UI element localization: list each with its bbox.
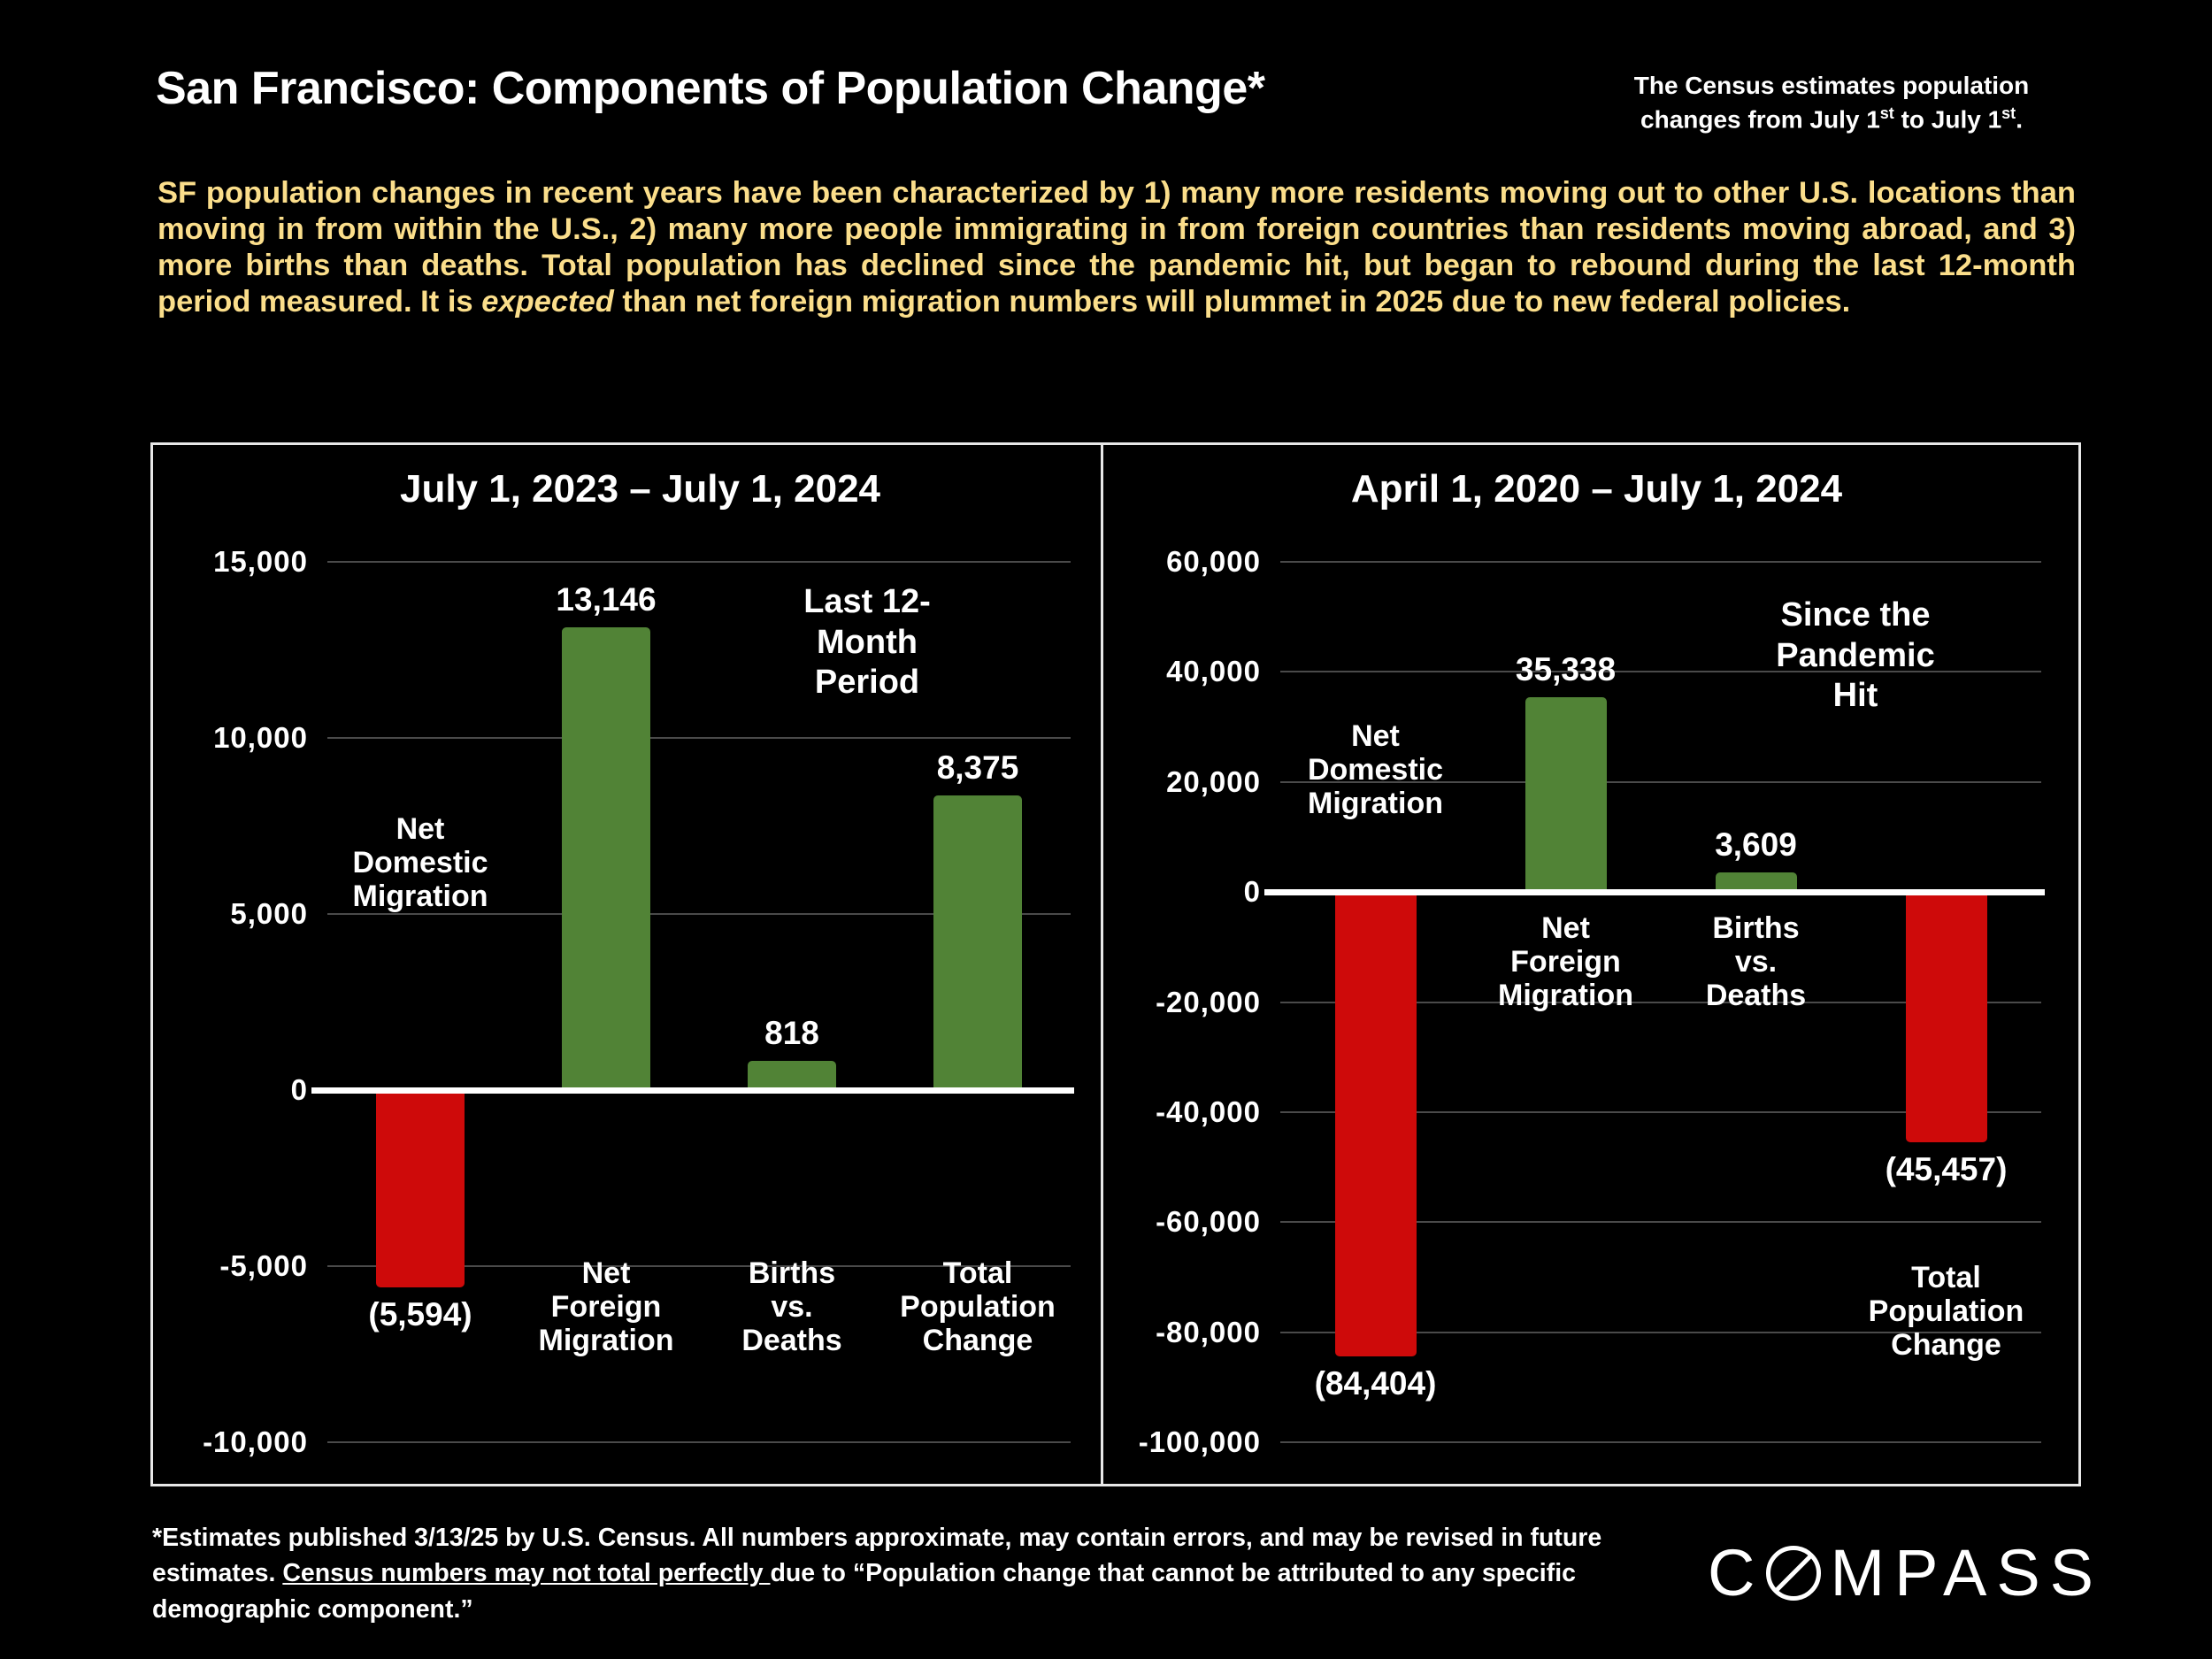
category-label-line: Net: [1498, 911, 1633, 945]
bar-value-label: 818: [764, 1015, 819, 1052]
census-note-line2b: to July 1: [1894, 105, 2001, 133]
gridline: [1280, 1441, 2041, 1443]
y-axis-tick-label: 5,000: [230, 897, 308, 931]
chart-title-left: July 1, 2023 – July 1, 2024: [150, 467, 1103, 511]
y-axis-tick-label: 20,000: [1166, 765, 1261, 799]
gridline: [1280, 561, 2041, 563]
bar-net-foreign-migration: [562, 627, 650, 1090]
page-title: San Francisco: Components of Population …: [156, 62, 1264, 115]
category-label-line: Deaths: [741, 1324, 841, 1357]
annotation-line: Last 12-Month: [765, 582, 969, 663]
bar-net-foreign-migration: [1525, 697, 1607, 892]
bar-net-domestic-migration: [1335, 892, 1417, 1356]
census-note-line2c: .: [2016, 105, 2023, 133]
bar-births-vs-deaths: [748, 1061, 836, 1090]
chart-panel-right: April 1, 2020 – July 1, 2024 60,00040,00…: [1103, 442, 2081, 1486]
y-axis-tick-label: -10,000: [203, 1425, 308, 1459]
bar-total-population-change: [1906, 892, 1987, 1142]
y-axis-tick-label: 0: [1244, 875, 1261, 909]
category-label-line: Migration: [1498, 979, 1633, 1012]
summary-paragraph: SF population changes in recent years ha…: [157, 175, 2076, 320]
category-label-line: Total: [900, 1256, 1056, 1290]
category-label-line: Population: [900, 1290, 1056, 1324]
category-label-line: Domestic: [352, 846, 488, 879]
zero-axis-line: [311, 1087, 1074, 1094]
category-label-line: Foreign: [539, 1290, 674, 1324]
y-axis-tick-label: -40,000: [1156, 1095, 1261, 1129]
gridline: [327, 561, 1071, 563]
compass-logo: CMPASS: [1708, 1535, 2103, 1610]
bar-value-label: 3,609: [1715, 826, 1797, 864]
category-label-line: Deaths: [1706, 979, 1806, 1012]
y-axis-tick-label: -5,000: [219, 1249, 308, 1283]
x-axis-category-label: NetDomesticMigration: [1308, 719, 1443, 820]
x-axis-category-label: TotalPopulationChange: [1869, 1261, 2024, 1362]
y-axis-tick-label: 40,000: [1166, 655, 1261, 688]
bar-value-label: 13,146: [556, 581, 656, 618]
category-label-line: Migration: [539, 1324, 674, 1357]
bar-value-label: (45,457): [1886, 1151, 2008, 1188]
zero-axis-line: [1264, 889, 2045, 895]
gridline: [327, 1441, 1071, 1443]
y-axis-tick-label: -100,000: [1139, 1425, 1261, 1459]
category-label-line: Change: [900, 1324, 1056, 1357]
slide-canvas: San Francisco: Components of Population …: [0, 0, 2212, 1659]
bar-value-label: (84,404): [1315, 1365, 1437, 1402]
y-axis-tick-label: 60,000: [1166, 545, 1261, 579]
category-label-line: Total: [1869, 1261, 2024, 1294]
category-label-line: Domestic: [1308, 753, 1443, 787]
bar-value-label: 8,375: [937, 749, 1019, 787]
x-axis-category-label: NetDomesticMigration: [352, 812, 488, 913]
x-axis-category-label: Birthsvs.Deaths: [741, 1256, 841, 1357]
census-note-sup2: st: [2001, 104, 2016, 122]
logo-letter-c: C: [1708, 1535, 1764, 1610]
chart-panel-left: July 1, 2023 – July 1, 2024 15,00010,000…: [150, 442, 1103, 1486]
bar-value-label: (5,594): [368, 1296, 472, 1333]
census-note-sup1: st: [1880, 104, 1894, 122]
y-axis-tick-label: -20,000: [1156, 986, 1261, 1019]
annotation-line: Pandemic Hit: [1763, 636, 1948, 717]
bar-total-population-change: [933, 795, 1022, 1090]
summary-part2: than net foreign migration numbers will …: [614, 285, 1851, 319]
gridline: [327, 737, 1071, 739]
annotation-line: Since the: [1763, 595, 1948, 636]
y-axis-tick-label: -60,000: [1156, 1205, 1261, 1239]
category-label-line: Births: [1706, 911, 1806, 945]
census-note: The Census estimates population changes …: [1584, 69, 2079, 136]
census-note-line1: The Census estimates population: [1634, 72, 2030, 99]
x-axis-category-label: NetForeignMigration: [539, 1256, 674, 1357]
footnote-underlined: Census numbers may not total perfectly: [282, 1559, 770, 1587]
category-label-line: Net: [1308, 719, 1443, 753]
y-axis-tick-label: 15,000: [213, 545, 308, 579]
footnote: *Estimates published 3/13/25 by U.S. Cen…: [152, 1520, 1656, 1627]
census-note-line2a: changes from July 1: [1640, 105, 1880, 133]
category-label-line: Migration: [1308, 787, 1443, 820]
compass-slashed-o-icon: [1766, 1546, 1821, 1601]
category-label-line: Foreign: [1498, 945, 1633, 979]
plot-area-right: 60,00040,00020,0000-20,000-40,000-60,000…: [1280, 562, 2041, 1442]
summary-emphasis: expected: [481, 285, 614, 319]
bar-value-label: 35,338: [1516, 651, 1616, 688]
annotation-line: Period: [765, 663, 969, 703]
category-label-line: Population: [1869, 1294, 2024, 1328]
chart-annotation: Last 12-MonthPeriod: [765, 582, 969, 703]
y-axis-tick-label: 0: [291, 1073, 308, 1107]
x-axis-category-label: TotalPopulationChange: [900, 1256, 1056, 1357]
x-axis-category-label: NetForeignMigration: [1498, 911, 1633, 1012]
y-axis-tick-label: -80,000: [1156, 1316, 1261, 1349]
y-axis-tick-label: 10,000: [213, 721, 308, 755]
chart-title-right: April 1, 2020 – July 1, 2024: [1103, 467, 2081, 511]
category-label-line: vs.: [1706, 945, 1806, 979]
category-label-line: Net: [539, 1256, 674, 1290]
category-label-line: Change: [1869, 1328, 2024, 1362]
logo-letters-mpass: MPASS: [1830, 1535, 2103, 1610]
category-label-line: Migration: [352, 879, 488, 913]
plot-area-left: 15,00010,0005,0000-5,000-10,000(5,594)Ne…: [327, 562, 1071, 1442]
category-label-line: vs.: [741, 1290, 841, 1324]
chart-annotation: Since thePandemic Hit: [1763, 595, 1948, 717]
category-label-line: Net: [352, 812, 488, 846]
bar-net-domestic-migration: [376, 1090, 465, 1287]
x-axis-category-label: Birthsvs.Deaths: [1706, 911, 1806, 1012]
category-label-line: Births: [741, 1256, 841, 1290]
